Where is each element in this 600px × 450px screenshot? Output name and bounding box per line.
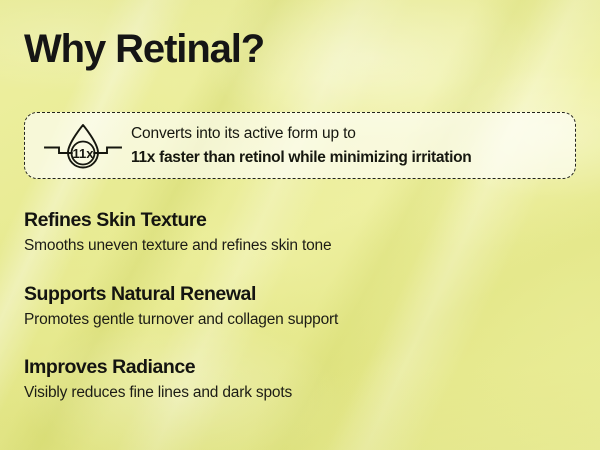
benefit-description: Smooths uneven texture and refines skin …	[24, 236, 564, 257]
highlight-callout-box: 11x Converts into its active form up to …	[24, 112, 576, 179]
infographic-canvas: Why Retinal? 11x Converts into its activ…	[0, 0, 600, 450]
callout-line-2: 11x faster than retinol while minimizing…	[131, 146, 471, 169]
benefit-item-1: Refines Skin Texture Smooths uneven text…	[24, 208, 564, 257]
page-title: Why Retinal?	[24, 28, 264, 71]
callout-line-1: Converts into its active form up to	[131, 122, 471, 145]
benefits-list: Refines Skin Texture Smooths uneven text…	[24, 208, 564, 404]
benefit-title: Refines Skin Texture	[24, 208, 564, 233]
droplet-icon-label: 11x	[73, 146, 95, 161]
benefit-description: Promotes gentle turnover and collagen su…	[24, 310, 564, 331]
callout-text-block: Converts into its active form up to 11x …	[131, 122, 471, 169]
droplet-11x-icon: 11x	[41, 120, 125, 172]
benefit-item-2: Supports Natural Renewal Promotes gentle…	[24, 282, 564, 331]
benefit-title: Improves Radiance	[24, 355, 564, 380]
benefit-description: Visibly reduces fine lines and dark spot…	[24, 383, 564, 404]
benefit-item-3: Improves Radiance Visibly reduces fine l…	[24, 355, 564, 404]
benefit-title: Supports Natural Renewal	[24, 282, 564, 307]
